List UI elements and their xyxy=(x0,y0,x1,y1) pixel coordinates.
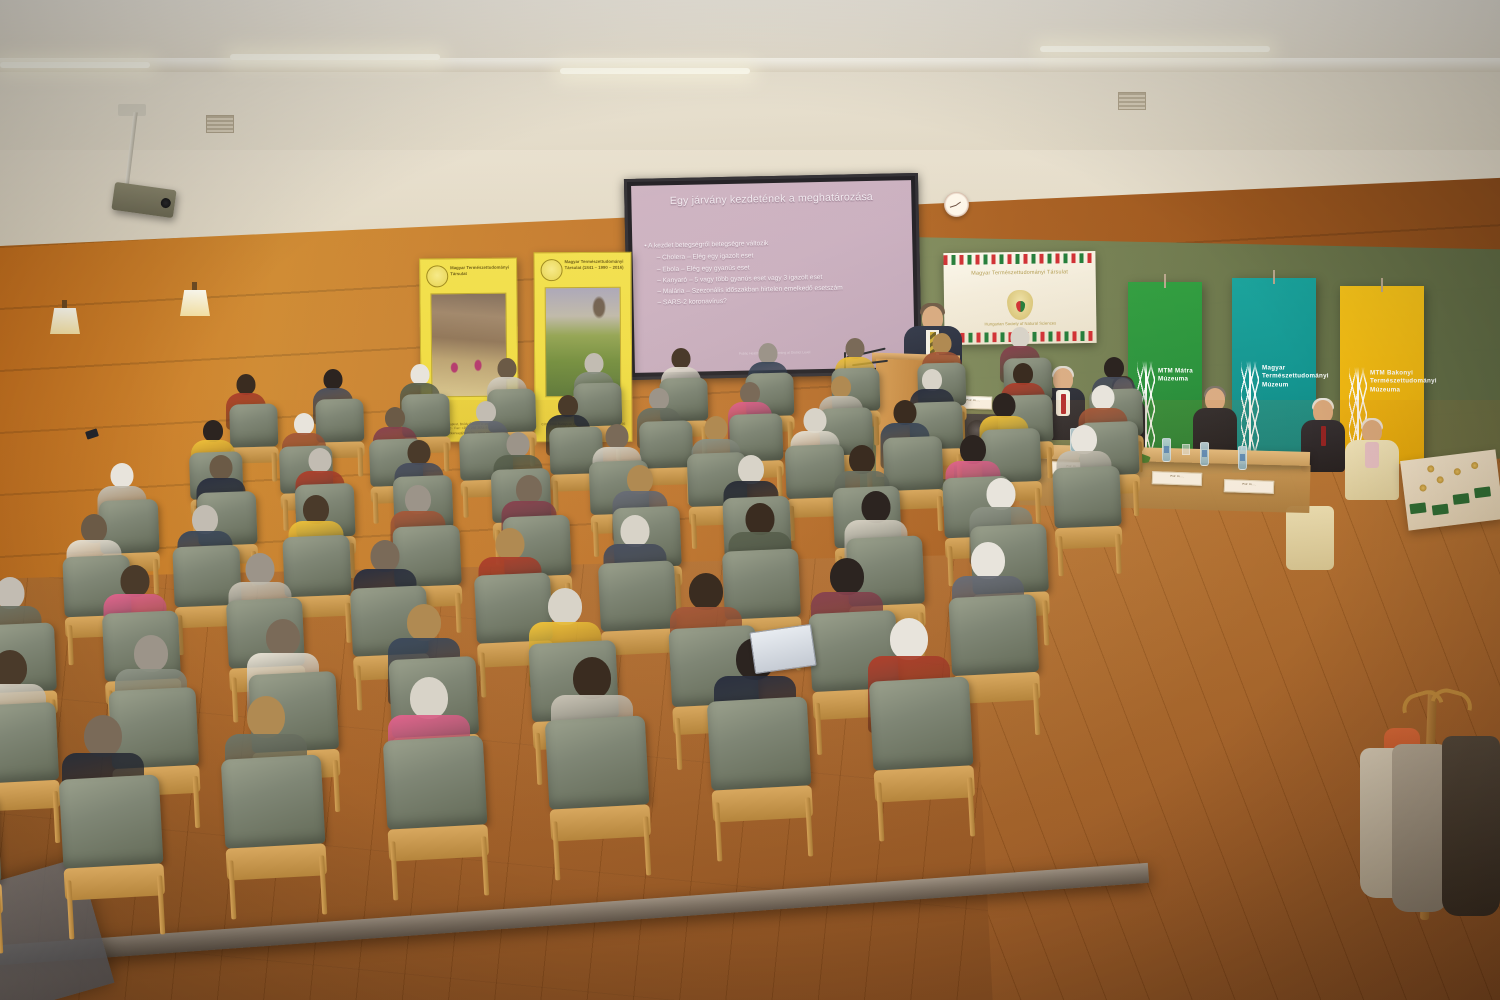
museum-banner-label: Magyar Természettudományi Múzeum xyxy=(1262,364,1312,389)
chair-arm xyxy=(226,843,328,880)
air-vent xyxy=(206,115,234,133)
audience-head xyxy=(558,395,578,417)
museum-banner-label: MTM Bakonyi Természettudományi Múzeuma xyxy=(1370,369,1420,394)
audience-head xyxy=(830,558,864,595)
nameplate-text: Prof. Dr. ... xyxy=(1225,480,1273,487)
audience-head xyxy=(585,353,604,374)
water-bottle xyxy=(1200,442,1209,466)
coat-of-arms-icon xyxy=(1007,290,1033,320)
ceiling-lamp xyxy=(230,54,440,60)
chair-arm xyxy=(388,823,490,860)
banner-pole xyxy=(1273,270,1275,284)
fern-leaf-icon xyxy=(1241,361,1259,457)
audience-head xyxy=(740,382,760,404)
audience-head xyxy=(405,485,431,514)
medal-icon xyxy=(1419,484,1427,492)
flag-top-text: Magyar Természettudományi Társulat xyxy=(950,269,1090,277)
audience-chair xyxy=(59,774,166,902)
audience-head xyxy=(1091,385,1114,410)
audience-head xyxy=(308,448,331,473)
audience-chair xyxy=(383,735,490,863)
award-box xyxy=(1453,493,1470,505)
audience-head xyxy=(620,515,649,547)
society-seal-icon xyxy=(426,265,448,287)
flag-bottom-text: Hungarian Society of Natural Sciences xyxy=(950,320,1090,327)
audience-head xyxy=(506,432,529,457)
audience-chair xyxy=(869,677,976,805)
chair-back xyxy=(383,735,488,829)
audience-head xyxy=(831,376,851,398)
audience-head xyxy=(495,528,524,560)
panel-member-5-legs xyxy=(1286,506,1334,570)
audience-head xyxy=(933,333,952,354)
audience-head xyxy=(476,401,496,423)
audience-head xyxy=(759,343,778,364)
audience-head xyxy=(672,348,691,369)
audience-chair xyxy=(221,754,328,882)
audience-head xyxy=(1104,357,1124,379)
chair-back xyxy=(59,774,164,868)
chair-back xyxy=(707,696,812,790)
audience-head xyxy=(548,588,582,625)
audience-head xyxy=(203,420,223,442)
rollup-org-name: Magyar Természettudományi Társulat (1841… xyxy=(565,259,627,271)
ceiling-slab xyxy=(0,0,1500,60)
museum-banner-label: MTM Mátra Múzeuma xyxy=(1158,368,1198,385)
panel-tie xyxy=(1061,394,1066,414)
flag-scallop-top xyxy=(943,253,1095,265)
chair-leg xyxy=(1046,448,1052,479)
audience-head xyxy=(846,338,865,359)
audience-chair xyxy=(1053,466,1123,552)
water-bottle xyxy=(1238,446,1247,470)
audience-head xyxy=(1071,425,1097,454)
audience-head xyxy=(960,435,986,464)
conference-hall-photo: Egy járvány kezdetének a meghatározása A… xyxy=(0,0,1500,1000)
audience-head xyxy=(1013,363,1033,385)
award-box xyxy=(1432,504,1449,516)
chair-leg xyxy=(874,416,880,445)
chair-leg xyxy=(462,487,468,518)
nameplate-panel-3: Prof. Dr. ... xyxy=(1224,479,1274,494)
audience-head xyxy=(704,416,727,441)
audience-head xyxy=(245,553,274,585)
chair-arm xyxy=(712,785,814,822)
projector-mount xyxy=(118,104,146,116)
audience-head xyxy=(134,635,168,672)
audience-head xyxy=(922,369,942,391)
audience-head xyxy=(893,400,916,425)
chair-leg xyxy=(444,442,450,471)
audience-head xyxy=(0,650,27,687)
audience-head xyxy=(986,478,1015,510)
panel-bow-tie xyxy=(1321,426,1326,446)
chair-back xyxy=(229,403,278,447)
rollup-header: Magyar Természettudományi Társulat (1841… xyxy=(539,257,627,283)
slide-title: Egy járvány kezdetének a meghatározása xyxy=(639,190,903,209)
panel-shirt xyxy=(1365,442,1379,468)
chair-arm xyxy=(550,804,652,841)
audience-head xyxy=(971,542,1005,579)
award-box xyxy=(1474,486,1491,498)
society-seal-icon xyxy=(541,259,563,281)
medal-icon xyxy=(1453,468,1461,476)
chair-back xyxy=(598,560,677,631)
rollup-header: Magyar Természettudományi Társulat xyxy=(424,263,512,290)
chair-back xyxy=(221,754,326,848)
audience-head xyxy=(303,495,329,524)
audience-head xyxy=(410,677,448,719)
audience-head xyxy=(849,445,875,474)
audience-head xyxy=(385,407,405,429)
wall-sconce-light xyxy=(50,308,80,334)
rollup-org-name: Magyar Természettudományi Társulat xyxy=(450,265,512,277)
chair-back xyxy=(0,702,59,784)
award-table xyxy=(1400,449,1500,530)
ceiling-lamp xyxy=(1040,46,1270,52)
chair-arm xyxy=(64,862,166,899)
chair-leg xyxy=(358,447,364,476)
air-vent xyxy=(1118,92,1146,110)
audience-head xyxy=(627,465,653,494)
audience-head xyxy=(407,604,441,641)
chair-back xyxy=(883,436,944,491)
audience-head xyxy=(861,491,890,523)
chair-back xyxy=(283,535,352,597)
chair-arm xyxy=(0,780,60,812)
chair-arm xyxy=(874,765,976,802)
audience-head xyxy=(110,463,133,488)
coat-grey xyxy=(1392,744,1448,912)
audience-head xyxy=(498,358,517,379)
audience-head xyxy=(209,455,232,480)
audience-head xyxy=(649,388,669,410)
audience-head xyxy=(803,408,826,433)
nameplate-panel-2: Prof. Dr. ... xyxy=(1152,471,1202,486)
banner-pole xyxy=(1164,274,1166,288)
audience-head xyxy=(411,364,430,385)
wall-clock-icon xyxy=(944,192,969,217)
audience-head xyxy=(120,565,149,597)
ceiling-lamp xyxy=(0,62,150,68)
audience-head xyxy=(738,455,764,484)
nameplate-text: Prof. Dr. ... xyxy=(1153,472,1201,479)
audience-head xyxy=(1011,327,1030,348)
drinking-glass xyxy=(1182,444,1190,455)
audience-head xyxy=(890,618,928,660)
audience-head xyxy=(0,577,24,609)
medal-icon xyxy=(1436,476,1444,484)
medal-icon xyxy=(1427,465,1435,473)
audience-head xyxy=(247,696,285,738)
slide-body: A kezdet betegségről betegségre változik… xyxy=(644,236,905,310)
audience-head xyxy=(407,440,430,465)
audience-head xyxy=(605,424,628,449)
audience-chair xyxy=(545,716,652,844)
audience-head xyxy=(81,514,107,543)
audience-head xyxy=(84,715,122,757)
ceiling-light-strip xyxy=(0,58,1500,72)
chair-back xyxy=(1053,466,1122,528)
water-bottle xyxy=(1162,438,1171,462)
audience-head xyxy=(266,619,300,656)
chair-leg xyxy=(372,493,378,524)
audience-head xyxy=(573,657,611,699)
audience-chair xyxy=(707,696,814,824)
coat-dark xyxy=(1442,736,1500,916)
chair-back xyxy=(869,677,974,771)
chair-back xyxy=(545,716,650,810)
audience-head xyxy=(324,369,343,390)
ceiling-lamp xyxy=(560,68,750,74)
audience-head xyxy=(294,413,314,435)
audience-head xyxy=(192,505,218,534)
attendee-laptop xyxy=(749,624,816,674)
banner-pole xyxy=(1381,278,1383,292)
audience-head xyxy=(992,393,1015,418)
projector-lens-icon xyxy=(160,197,171,208)
audience-head xyxy=(237,374,256,395)
audience-head xyxy=(370,540,399,572)
audience-head xyxy=(516,475,542,504)
award-box xyxy=(1409,502,1426,514)
chair-back xyxy=(948,594,1039,676)
audience-head xyxy=(745,503,774,535)
wall-sconce-light xyxy=(180,290,210,316)
medal-icon xyxy=(1471,462,1479,470)
chair-leg xyxy=(272,452,278,481)
audience-head xyxy=(689,573,723,610)
panel-member-5 xyxy=(1344,420,1400,516)
audience-chair xyxy=(0,702,60,814)
chair-arm xyxy=(1055,525,1123,549)
